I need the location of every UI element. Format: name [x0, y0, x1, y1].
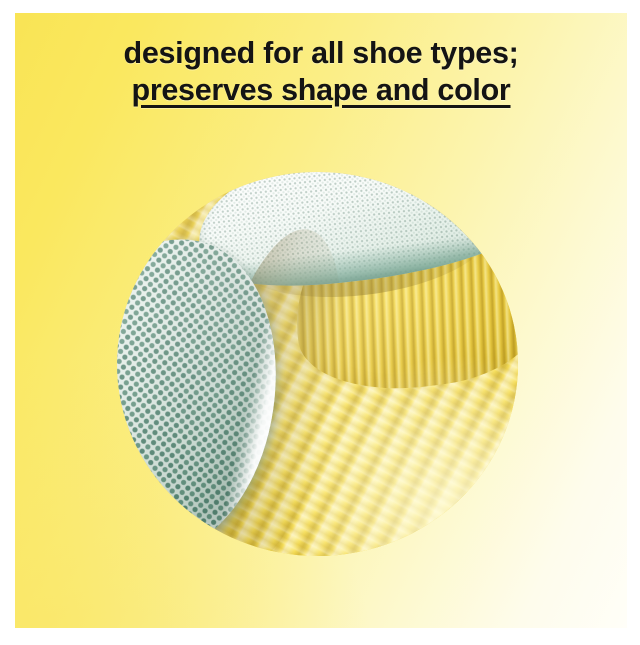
headline-line-2: preserves shape and color	[15, 72, 627, 109]
product-photo-circle	[117, 172, 518, 556]
banner-card: designed for all shoe types; preserves s…	[15, 13, 627, 628]
photo-edge-fade	[117, 172, 518, 556]
product-feature-banner: designed for all shoe types; preserves s…	[0, 0, 640, 645]
headline-block: designed for all shoe types; preserves s…	[15, 35, 627, 109]
headline-line-1: designed for all shoe types;	[15, 35, 627, 72]
